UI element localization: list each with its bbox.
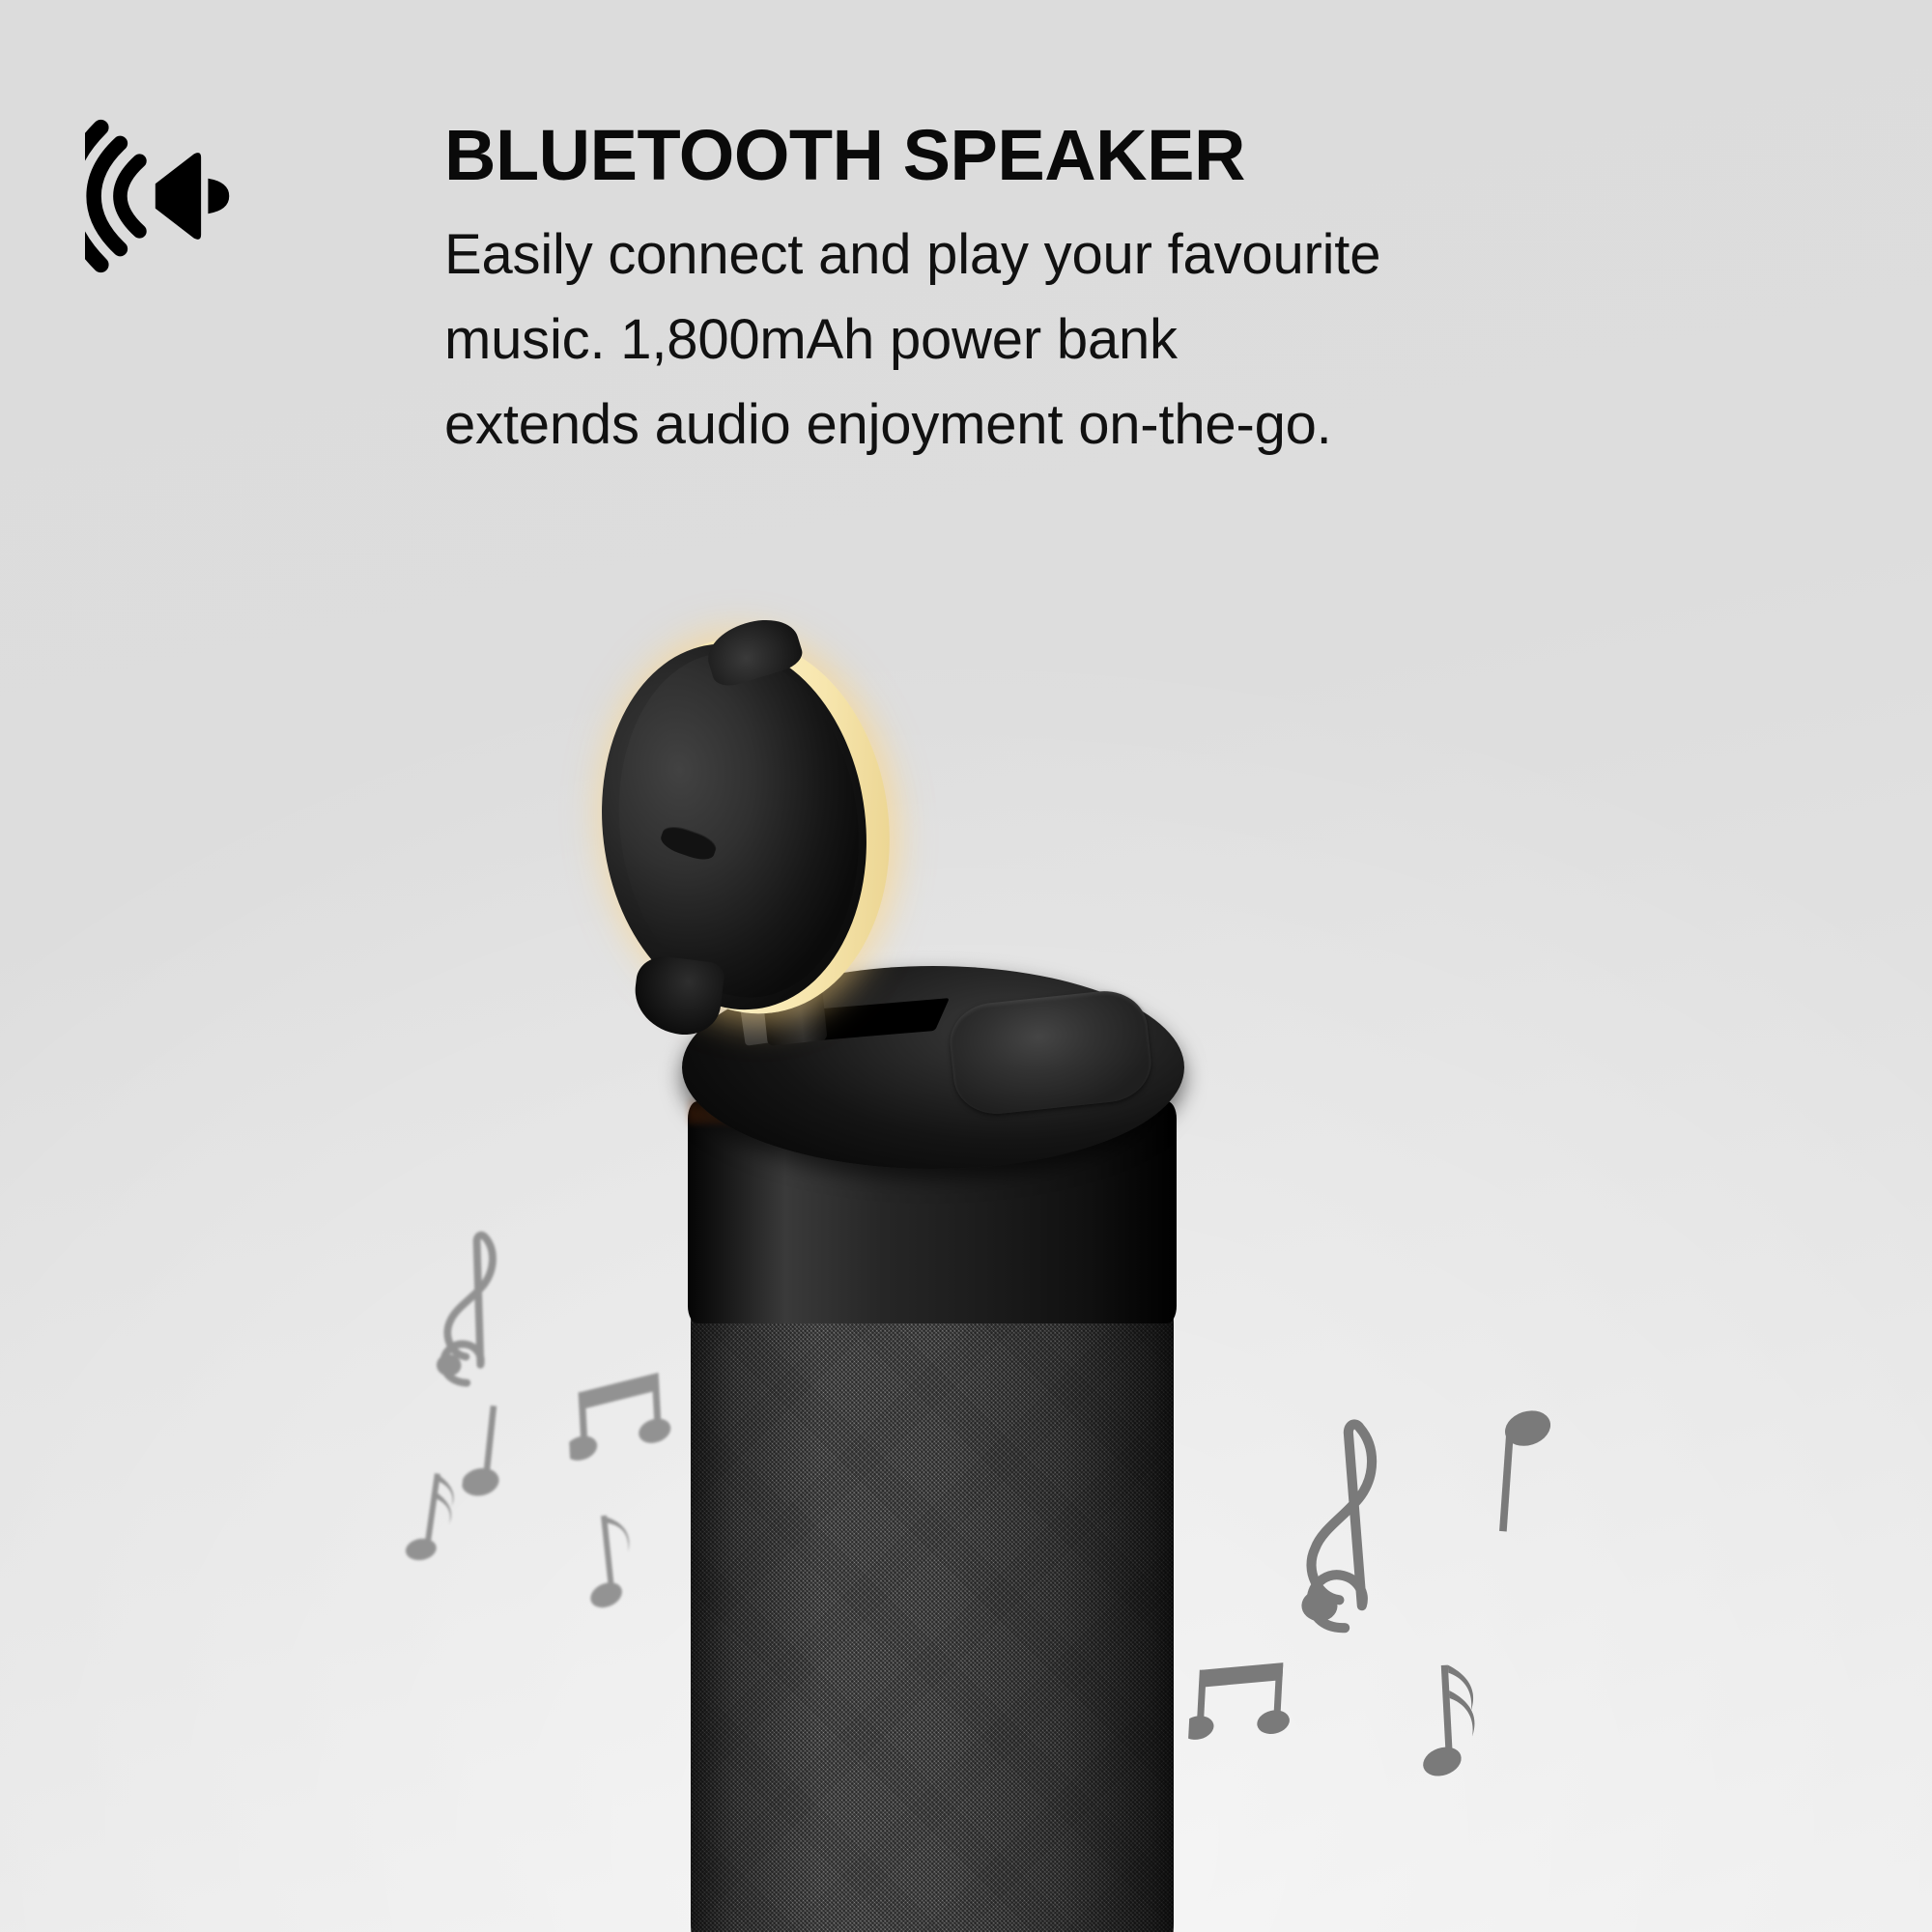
speaker-fabric-grille xyxy=(691,1285,1174,1932)
music-note-beamed-eighth-pair xyxy=(1187,1654,1296,1756)
music-note-sixteenth xyxy=(403,1464,473,1577)
music-note-quarter xyxy=(1483,1404,1562,1544)
speaker-flip-lid xyxy=(586,622,910,1030)
product-ground-shadow xyxy=(618,1869,1256,1932)
product-description: Easily connect and play your favourite m… xyxy=(444,191,1855,468)
music-note-sixteenth xyxy=(1415,1655,1501,1786)
speaker-sound-waves-icon xyxy=(85,108,261,284)
description-line-1: Easily connect and play your favourite xyxy=(444,213,1855,298)
speaker-hinge-gap xyxy=(735,963,790,1046)
lid-warm-light-ring xyxy=(586,622,910,1030)
lid-inner-face xyxy=(600,639,878,1011)
speaker-hinge-slot xyxy=(774,998,950,1044)
page-title: BLUETOOTH SPEAKER xyxy=(444,106,1855,191)
lid-bottom-tab xyxy=(631,953,726,1038)
music-note-eighth xyxy=(580,1504,650,1618)
lid-light-glow xyxy=(554,589,943,1062)
speaker-control-pad xyxy=(947,987,1155,1119)
description-line-3: extends audio enjoyment on-the-go. xyxy=(444,383,1855,468)
music-note-treble-clef xyxy=(422,1227,519,1397)
description-line-2: music. 1,800mAh power bank xyxy=(444,298,1855,383)
music-note-beamed-eighth-pair xyxy=(565,1364,676,1471)
lid-outer-face xyxy=(582,629,887,1025)
speaker-hinge-post xyxy=(758,952,827,1046)
header-section: BLUETOOTH SPEAKER Easily connect and pla… xyxy=(0,0,1932,599)
lid-top-tab xyxy=(700,610,806,691)
music-note-treble-clef xyxy=(1286,1413,1407,1647)
marketing-banner: BLUETOOTH SPEAKER Easily connect and pla… xyxy=(0,0,1932,1932)
header-text-block: BLUETOOTH SPEAKER Easily connect and pla… xyxy=(444,106,1855,468)
lid-seam-notch xyxy=(658,822,719,864)
speaker-cap-top-surface xyxy=(682,966,1184,1169)
speaker-top-cap-cylinder xyxy=(688,1101,1177,1323)
